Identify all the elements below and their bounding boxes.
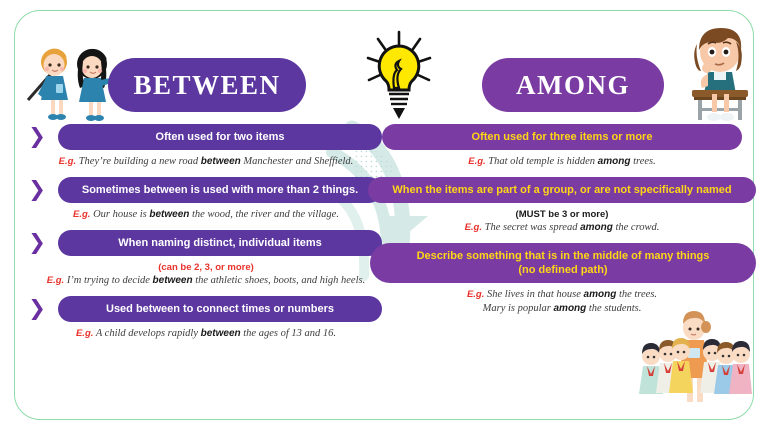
example-after: trees. <box>630 156 655 167</box>
rule-pill: Often used for two items <box>58 124 382 150</box>
example-before: That old temple is hidden <box>486 156 598 167</box>
chevron-right-icon: ❯ <box>26 179 48 201</box>
thinking-boy-at-desk-icon <box>684 24 756 124</box>
example2-keyword: among <box>553 303 586 314</box>
rule-row: ❯ Used between to connect times or numbe… <box>26 296 386 347</box>
example-text: E.g. A child develops rapidly between th… <box>26 322 386 347</box>
example-keyword: between <box>153 275 193 286</box>
rule-row: Often used for three items or more E.g. … <box>382 124 742 175</box>
rule-row: Describe something that is in the middle… <box>382 243 742 322</box>
chevron-right-icon: ❯ <box>26 298 48 320</box>
example-after: the crowd. <box>613 222 660 233</box>
rule-pill: Describe something that is in the middle… <box>370 243 756 283</box>
example-text: E.g. Our house is between the wood, the … <box>26 203 386 228</box>
eg-label: E.g. <box>59 156 76 167</box>
example-before: They’re building a new road <box>76 156 201 167</box>
rule-pill: When naming distinct, individual items <box>58 230 382 256</box>
example-keyword: between <box>201 156 241 167</box>
eg-label: E.g. <box>73 209 90 220</box>
rule-row: ❯ Sometimes between is used with more th… <box>26 177 386 228</box>
example-before: She lives in that house <box>484 289 583 300</box>
rule-note: (can be 2, 3, or more) <box>30 261 382 274</box>
example-before: Our house is <box>90 209 149 220</box>
example-keyword: among <box>580 222 613 233</box>
example-keyword: between <box>201 328 241 339</box>
example-before: A child develops rapidly <box>93 328 200 339</box>
chevron-right-icon: ❯ <box>26 232 48 254</box>
title-pill-between: BETWEEN <box>108 58 306 112</box>
infographic-canvas: BETWEEN AMONG ❯ Often used for two items… <box>0 0 768 432</box>
example-after: the wood, the river and the village. <box>189 209 339 220</box>
chevron-right-icon: ❯ <box>26 126 48 148</box>
among-column: Often used for three items or more E.g. … <box>382 124 742 324</box>
rule-line-1: Describe something that is in the middle… <box>417 250 710 262</box>
rule-pill: When the items are part of a group, or a… <box>368 177 756 203</box>
example-text: E.g. She lives in that house among the t… <box>382 283 742 322</box>
rule-row: ❯ When naming distinct, individual items… <box>26 230 386 294</box>
between-column: ❯ Often used for two items E.g. They’re … <box>26 124 386 349</box>
example2-before: Mary is popular <box>483 303 554 314</box>
example-before: The secret was spread <box>482 222 580 233</box>
example-after: Manchester and Sheffield. <box>241 156 354 167</box>
rule-pill: Often used for three items or more <box>382 124 742 150</box>
example-text: E.g. That old temple is hidden among tre… <box>382 150 742 175</box>
eg-label: E.g. <box>47 275 64 286</box>
title-pill-among: AMONG <box>482 58 664 112</box>
example-text: (MUST be 3 or more) E.g. The secret was … <box>382 203 742 241</box>
eg-label: E.g. <box>468 156 485 167</box>
rule-pill: Used between to connect times or numbers <box>58 296 382 322</box>
example2-after: the students. <box>586 303 641 314</box>
rule-pill: Sometimes between is used with more than… <box>58 177 382 203</box>
rule-row: ❯ Often used for two items E.g. They’re … <box>26 124 386 175</box>
rule-row: When the items are part of a group, or a… <box>382 177 742 241</box>
rule-line-2: (no defined path) <box>518 264 607 276</box>
eg-label: E.g. <box>467 289 484 300</box>
example-text: E.g. They’re building a new road between… <box>26 150 386 175</box>
example-keyword: among <box>598 156 631 167</box>
example-after: the athletic shoes, boots, and high heel… <box>193 275 366 286</box>
lightbulb-icon <box>362 28 436 126</box>
example-before: I’m trying to decide <box>64 275 152 286</box>
example-after: the trees. <box>616 289 657 300</box>
example-text: (can be 2, 3, or more) E.g. I’m trying t… <box>26 256 386 294</box>
example-keyword: between <box>149 209 189 220</box>
eg-label: E.g. <box>465 222 482 233</box>
eg-label: E.g. <box>76 328 93 339</box>
rule-note: (MUST be 3 or more) <box>386 208 738 221</box>
example-after: the ages of 13 and 16. <box>241 328 336 339</box>
example-keyword: among <box>584 289 617 300</box>
